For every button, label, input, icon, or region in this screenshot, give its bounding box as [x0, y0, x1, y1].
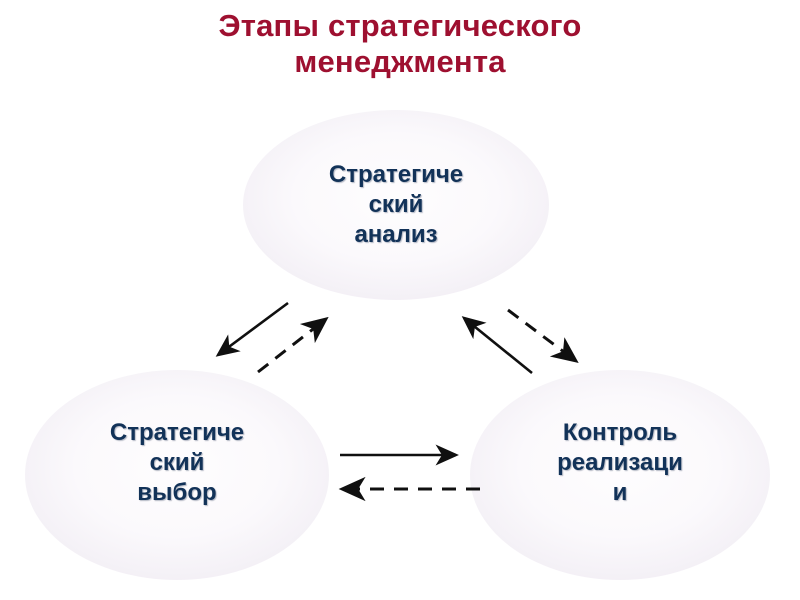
cycle-diagram	[0, 0, 800, 600]
slide-canvas: Этапы стратегического менеджмента	[0, 0, 800, 600]
connector-analysis-to-control	[508, 310, 576, 361]
connector-control-to-analysis	[464, 318, 532, 373]
connector-choice-to-analysis	[258, 319, 326, 372]
node-strategic-choice[interactable]	[25, 370, 329, 580]
connector-analysis-to-choice	[218, 303, 288, 355]
node-implementation-control[interactable]	[470, 370, 770, 580]
node-strategic-analysis[interactable]	[243, 110, 549, 300]
